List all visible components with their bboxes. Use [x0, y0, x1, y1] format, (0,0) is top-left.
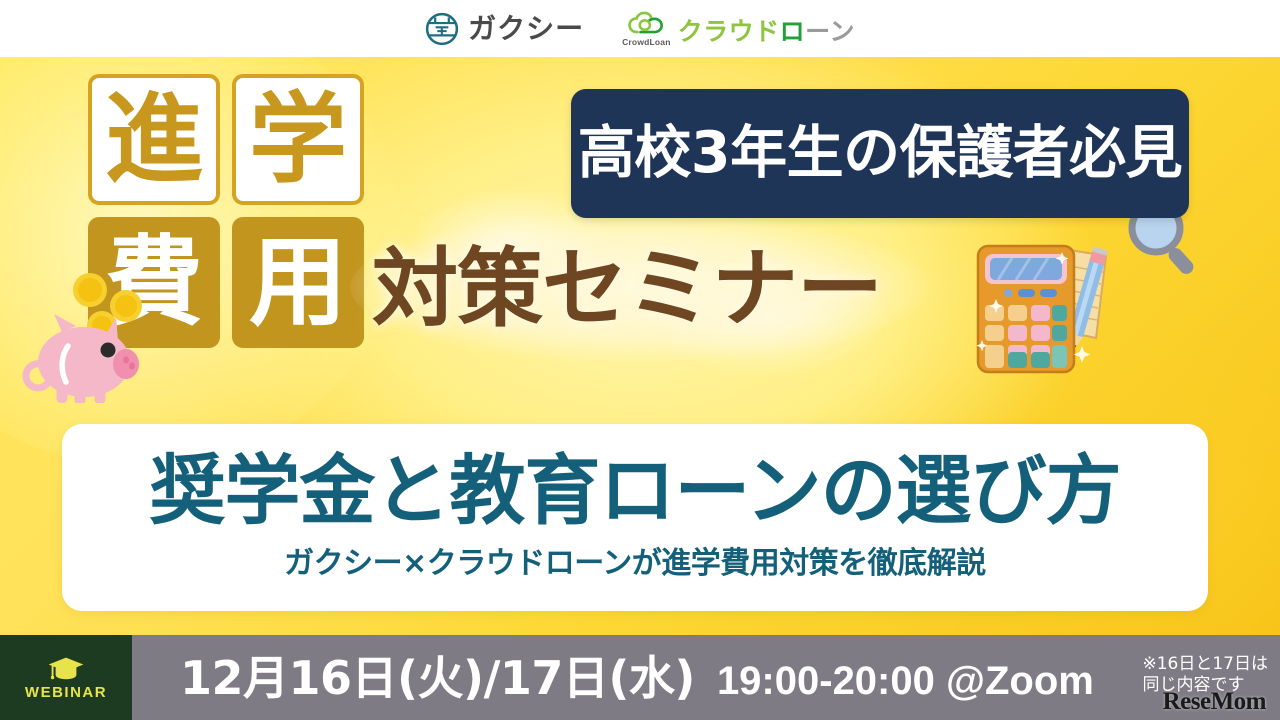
calculator-notepad-pencil-icon — [972, 222, 1120, 382]
target-audience-badge: 高校3年生の保護者必見 — [571, 89, 1189, 218]
keyword-tile-you: 用 — [232, 217, 364, 348]
seminar-heading: 対策セミナー — [372, 246, 882, 332]
logo-bar: ガクシー CrowdLoan クラウドローン — [0, 0, 1280, 57]
headline-title: 奨学金と教育ローンの選び方 — [149, 453, 1120, 529]
keyword-tile-row-top: 進 学 — [88, 74, 364, 205]
event-date: 12月16日(火)/17日(水) — [180, 655, 695, 701]
schedule-note-line1: ※16日と17日は — [1142, 654, 1268, 675]
cloud-icon — [628, 11, 664, 36]
webinar-badge: WEBINAR — [0, 635, 132, 720]
resemom-watermark: ReseMom — [1163, 689, 1266, 714]
crowdloan-wordmark: クラウドローン — [678, 20, 855, 47]
webinar-label: WEBINAR — [25, 685, 107, 700]
seminar-heading-text: 対策セミナー — [372, 246, 882, 332]
crowdloan-word-n: ーン — [805, 18, 855, 46]
gakushi-wordmark: ガクシー — [468, 15, 584, 43]
crowdloan-subtext: CrowdLoan — [622, 37, 671, 47]
keyword-tile-shin: 進 — [88, 74, 220, 205]
schedule-bar: WEBINAR 12月16日(火)/17日(水) 19:00-20:00 @Zo… — [0, 635, 1280, 720]
gakushi-emblem-icon — [425, 12, 459, 46]
graduation-cap-icon — [46, 655, 86, 681]
headline-card: 奨学金と教育ローンの選び方 ガクシー×クラウドローンが進学費用対策を徹底解説 — [62, 424, 1208, 611]
crowdloan-logo: CrowdLoan クラウドローン — [622, 11, 855, 47]
keyword-tile-gaku: 学 — [232, 74, 364, 205]
webinar-promo-banner: ガクシー CrowdLoan クラウドローン 進 学 費 用 — [0, 0, 1280, 720]
crowdloan-word-kura: クラウド — [678, 18, 780, 46]
schedule-info: 12月16日(火)/17日(水) 19:00-20:00 @Zoom — [132, 655, 1280, 701]
target-audience-badge-text: 高校3年生の保護者必見 — [578, 125, 1182, 182]
gakushi-logo: ガクシー — [425, 12, 584, 46]
crowdloan-word-ro: ロ — [780, 18, 806, 46]
headline-subtitle: ガクシー×クラウドローンが進学費用対策を徹底解説 — [284, 549, 986, 579]
event-time-platform: 19:00-20:00 @Zoom — [717, 661, 1094, 701]
piggy-bank-icon — [18, 268, 158, 403]
crowdloan-icon-wrap: CrowdLoan — [622, 11, 671, 47]
